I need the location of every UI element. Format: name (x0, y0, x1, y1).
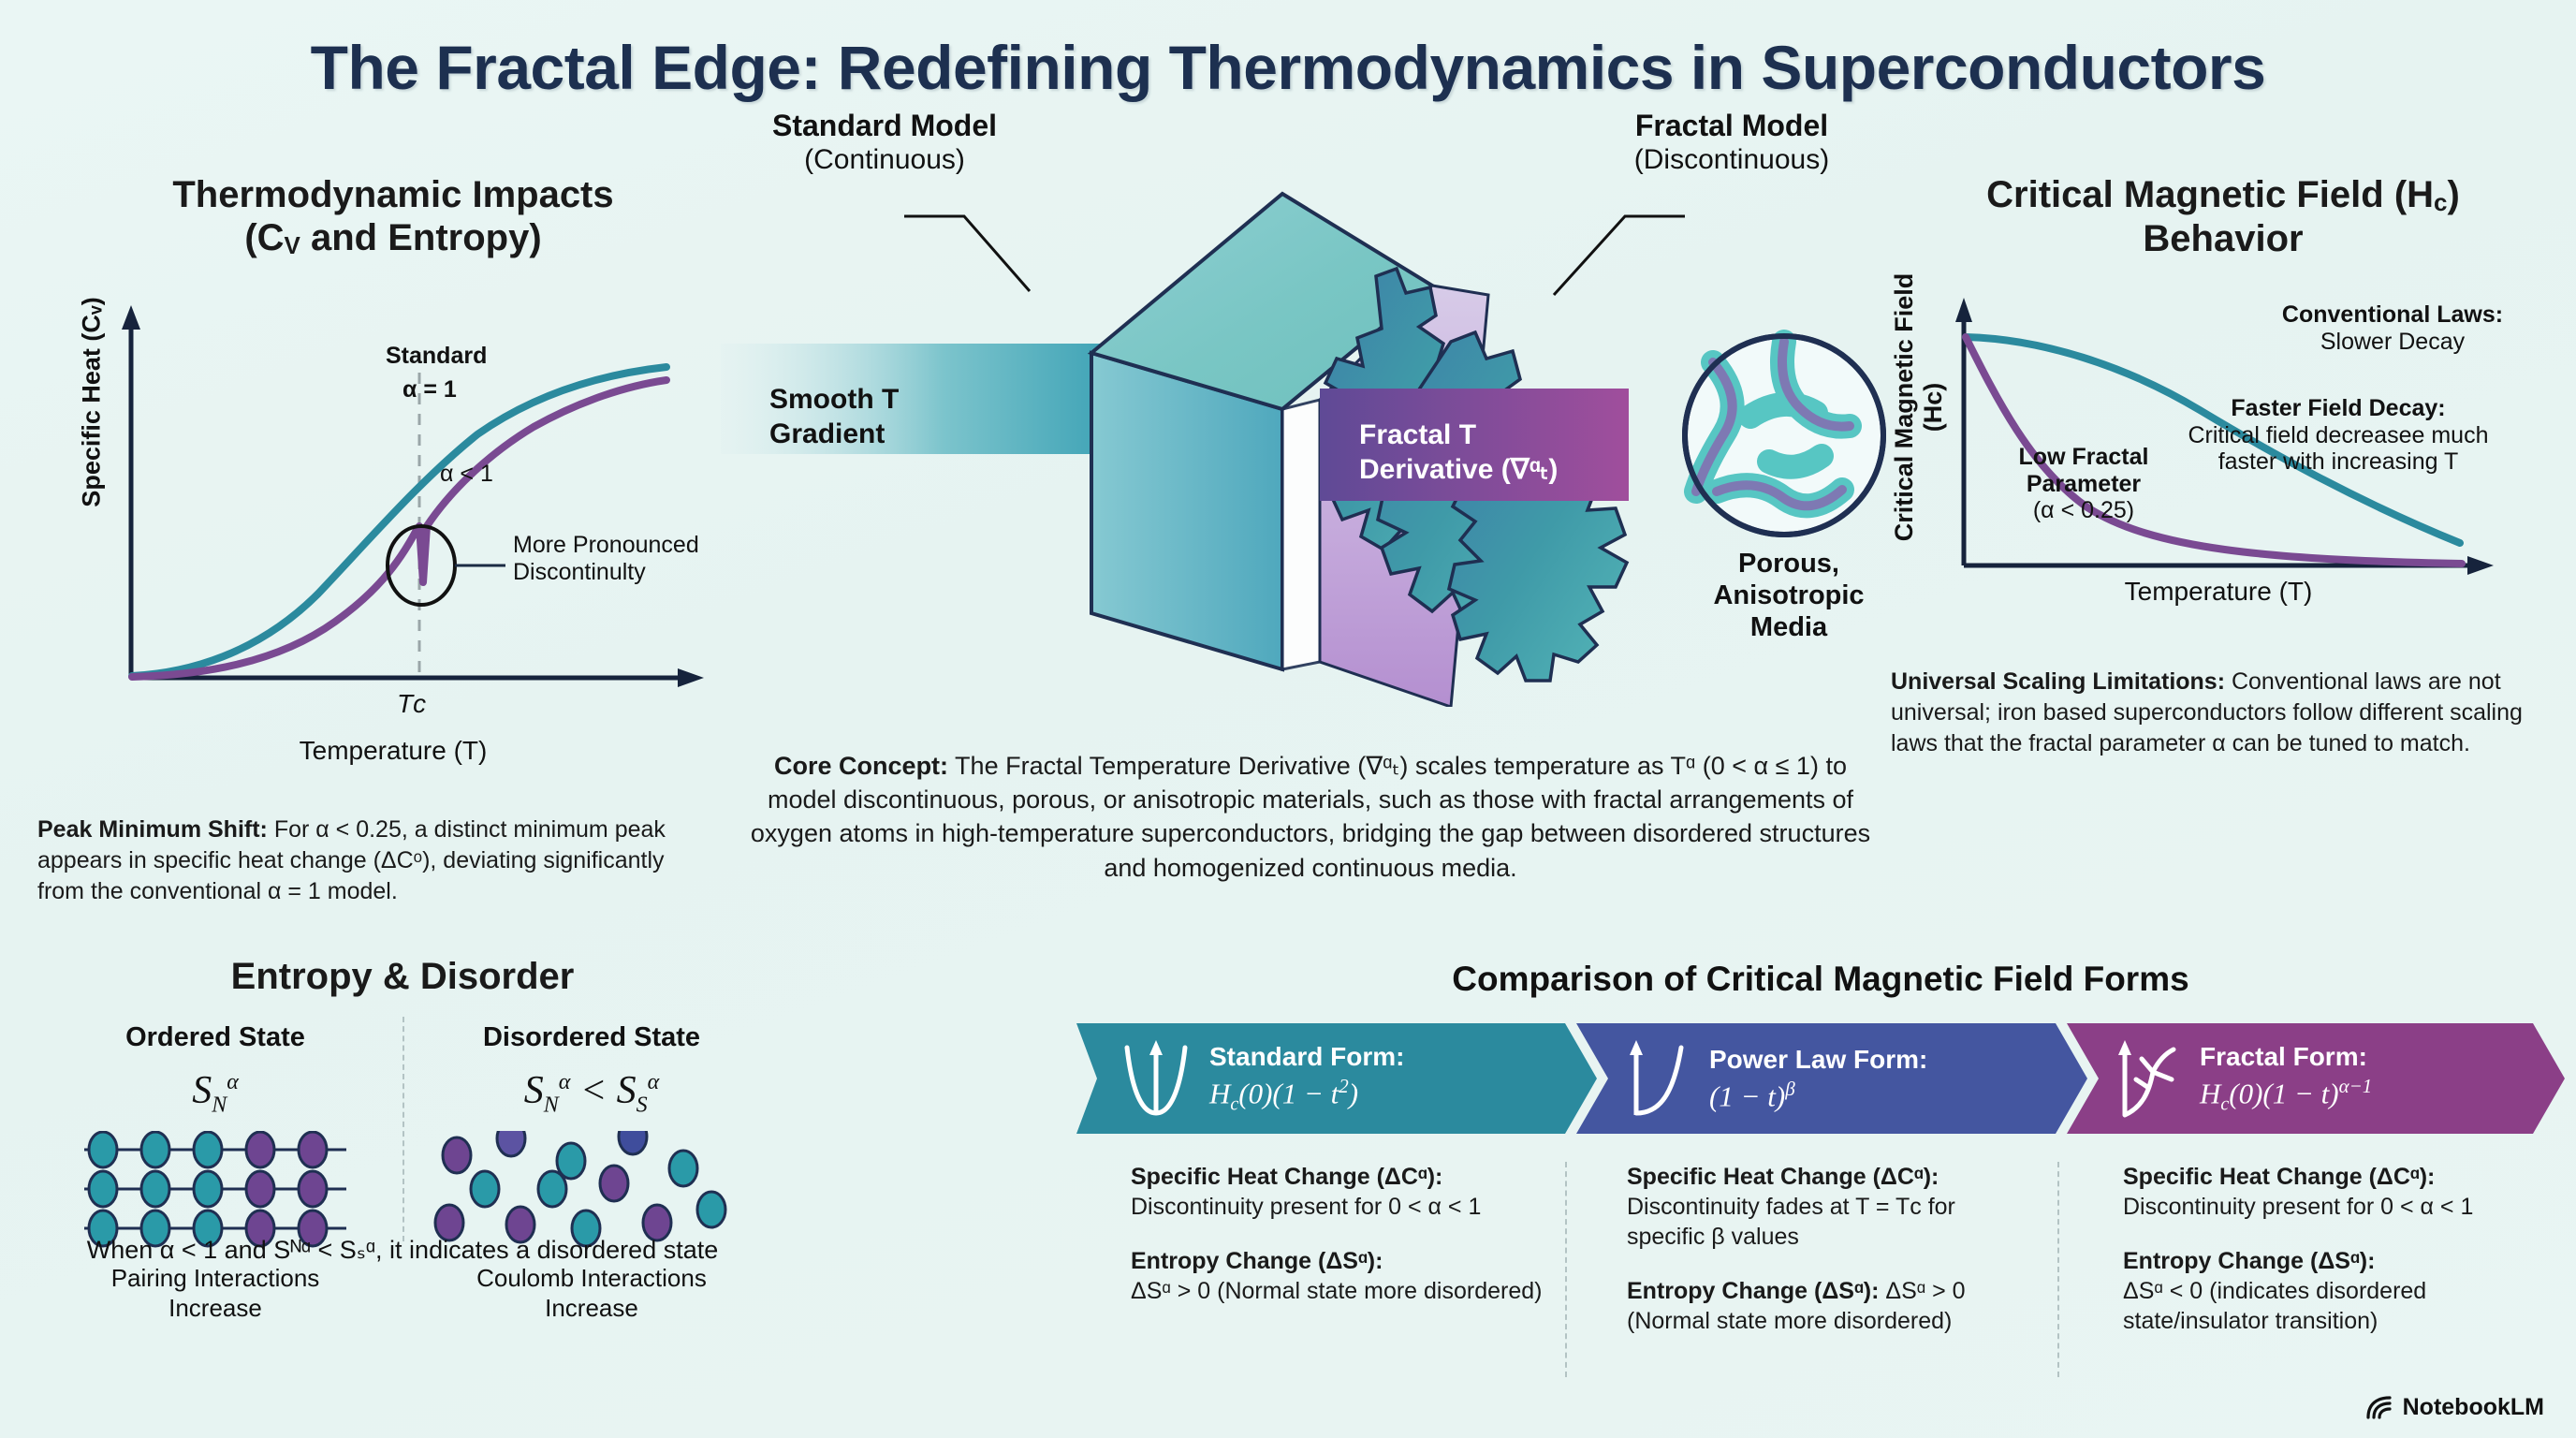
cv-y-axis-label: Specific Heat (Cᵥ) (78, 261, 107, 542)
ordered-state-caption: Pairing Interactions Increase (36, 1264, 395, 1322)
ordered-caption-line2: Increase (36, 1294, 395, 1323)
comparison-divider-1 (1565, 1162, 1567, 1377)
right-panel-title: Critical Magnetic Field (Hc) Behavior (1891, 173, 2555, 260)
critical-field-chart: Critical Magnetic Field (Hᴄ) Conventiona… (1891, 285, 2546, 594)
entropy-suffix: and Entropy) (300, 217, 542, 258)
power-law-spec-heat-label: Specific Heat Change (ΔCᵅ): (1627, 1164, 1939, 1190)
disordered-scatter-icon (412, 1131, 771, 1249)
disordered-state-column: Disordered State SNα < SSα (412, 1022, 771, 1323)
curve-fractal-alpha-lt-1 (132, 380, 666, 677)
fractal-entropy-block: Entropy Change (ΔSᵅ): ΔSᵅ < 0 (indicates… (2123, 1246, 2535, 1336)
power-law-entropy-block: Entropy Change (ΔSᵅ): ΔSᵅ > 0 (Normal st… (1627, 1276, 2039, 1336)
hc-title-subscript: c (2434, 188, 2447, 216)
hc-x-axis-arrow (2467, 556, 2494, 575)
right-caption-bold: Universal Scaling Limitations: (1891, 668, 2225, 695)
branching-fractal-icon (2110, 1038, 2183, 1119)
notebooklm-watermark: NotebookLM (2365, 1394, 2544, 1421)
tc-tick-label: Tᴄ (397, 689, 426, 719)
entropy-disorder-panel: Entropy & Disorder Ordered State SNα (28, 955, 777, 998)
disordered-state-caption: Coulomb Interactions Increase (412, 1264, 771, 1322)
standard-spec-heat-label: Specific Heat Change (ΔCᵅ): (1131, 1164, 1442, 1190)
entropy-panel-title: Entropy & Disorder (28, 955, 777, 998)
low-fractal-line2: Parameter (1981, 471, 2187, 498)
smooth-gradient-line2: Gradient (769, 418, 899, 452)
faster-decay-line2: faster with increasing T (2142, 448, 2535, 476)
porous-media-icon (1685, 336, 1883, 535)
discontinuity-annotation: More Pronounced Discontinulty (513, 532, 738, 586)
exponential-curve-icon (1619, 1038, 1692, 1119)
standard-form-equation: Hc(0)(1 − t2) (1209, 1075, 1404, 1116)
standard-form-label: Standard Form: (1209, 1041, 1404, 1073)
fractal-spec-heat-label: Specific Heat Change (ΔCᵅ): (2123, 1164, 2435, 1190)
faster-field-decay-annotation: Faster Field Decay: Critical field decre… (2142, 395, 2535, 476)
low-fractal-parameter-annotation: Low Fractal Parameter (α < 0.25) (1981, 444, 2187, 524)
faster-decay-bold: Faster Field Decay: (2142, 395, 2535, 422)
porous-media-caption: Porous, Anisotropic Media (1681, 548, 1896, 644)
standard-spec-heat-value: Discontinuity present for 0 < α < 1 (1131, 1194, 1481, 1220)
standard-entropy-block: Entropy Change (ΔSᵅ): ΔSᵅ > 0 (Normal st… (1131, 1246, 1548, 1306)
ordered-state-column: Ordered State SNα (36, 1022, 395, 1323)
comparison-divider-2 (2057, 1162, 2059, 1377)
core-concept-bold: Core Concept: (774, 752, 948, 780)
comparison-chevron-row: Standard Form: Hc(0)(1 − t2) Power Law F… (1076, 1023, 2565, 1134)
parabola-up-icon (1120, 1038, 1193, 1119)
power-law-entropy-label: Entropy Change (ΔSᵅ): (1627, 1278, 1879, 1304)
left-panel-title-line2: (CV and Entropy) (37, 216, 749, 260)
porous-media-line1: Porous, (1681, 548, 1896, 580)
standard-form-text: Standard Form: Hc(0)(1 − t2) (1209, 1041, 1404, 1115)
power-law-form-text: Power Law Form: (1 − t)β (1709, 1044, 1927, 1113)
low-fractal-line3: (α < 0.25) (1981, 497, 2187, 524)
conventional-laws-rest: Slower Decay (2252, 329, 2533, 356)
left-panel-title: Thermodynamic Impacts (CV and Entropy) (37, 173, 749, 260)
fractal-spec-heat-value: Discontinuity present for 0 < α < 1 (2123, 1194, 2473, 1220)
standard-entropy-value: ΔSᵅ > 0 (Normal state more disordered) (1131, 1278, 1542, 1304)
comparison-column-fractal: Specific Heat Change (ΔCᵅ): Discontinuit… (2123, 1162, 2535, 1336)
cv-x-axis-arrow (678, 668, 704, 687)
infographic-page: The Fractal Edge: Redefining Thermodynam… (0, 0, 2576, 1438)
fractal-model-leader (1554, 216, 1685, 295)
standard-spec-heat-block: Specific Heat Change (ΔCᵅ): Discontinuit… (1131, 1162, 1548, 1222)
low-fractal-line1: Low Fractal (1981, 444, 2187, 471)
ordered-lattice-icon (36, 1131, 395, 1249)
fractal-form-equation: Hc(0)(1 − t)α−1 (2200, 1075, 2372, 1116)
comparison-column-power-law: Specific Heat Change (ΔCᵅ): Discontinuit… (1627, 1162, 2039, 1336)
notebooklm-logo-icon (2365, 1395, 2393, 1421)
cv-paren: (C (244, 217, 284, 258)
disordered-state-formula: SNα < SSα (412, 1068, 771, 1118)
fractal-spec-heat-block: Specific Heat Change (ΔCᵅ): Discontinuit… (2123, 1162, 2535, 1222)
cv-x-axis-label: Temperature (T) (37, 736, 749, 766)
left-panel-title-line1: Thermodynamic Impacts (37, 173, 749, 216)
power-law-spec-heat-value: Discontinuity fades at T = Tᴄ for specif… (1627, 1194, 1955, 1250)
discontinuity-annotation-line2: Discontinulty (513, 559, 738, 586)
form-chevron-power-law[interactable]: Power Law Form: (1 − t)β (1576, 1023, 2087, 1134)
fractal-entropy-label: Entropy Change (ΔSᵅ): (2123, 1248, 2375, 1274)
conventional-laws-bold: Conventional Laws: (2252, 301, 2533, 329)
right-panel-title-line1: Critical Magnetic Field (Hc) (1891, 173, 2555, 217)
page-title: The Fractal Edge: Redefining Thermodynam… (0, 32, 2576, 103)
left-caption: Peak Minimum Shift: For α < 0.25, a dist… (37, 814, 711, 907)
label-standard: Standard (386, 343, 487, 370)
power-law-form-label: Power Law Form: (1709, 1044, 1927, 1076)
smooth-gradient-label: Smooth T Gradient (749, 370, 919, 464)
discontinuity-annotation-line1: More Pronounced (513, 532, 738, 559)
faster-decay-line1: Critical field decreasee much (2142, 422, 2535, 449)
standard-model-leader (904, 216, 1030, 291)
comparison-title: Comparison of Critical Magnetic Field Fo… (1076, 960, 2565, 999)
power-law-spec-heat-block: Specific Heat Change (ΔCᵅ): Discontinuit… (1627, 1162, 2039, 1252)
core-concept-caption: Core Concept: The Fractal Temperature De… (739, 749, 1881, 885)
ordered-state-title: Ordered State (36, 1022, 395, 1053)
form-chevron-standard[interactable]: Standard Form: Hc(0)(1 − t2) (1076, 1023, 1597, 1134)
form-chevron-fractal[interactable]: Fractal Form: Hc(0)(1 − t)α−1 (2067, 1023, 2565, 1134)
cv-subscript: V (285, 231, 300, 259)
fractal-derivative-line2: Derivative (∇ᵅₜ) (1359, 453, 1558, 488)
ordered-caption-line1: Pairing Interactions (36, 1264, 395, 1293)
disordered-caption-line2: Increase (412, 1294, 771, 1323)
notebooklm-label: NotebookLM (2403, 1394, 2544, 1421)
hc-y-axis-arrow (1955, 298, 1972, 322)
right-panel-title-line2: Behavior (1891, 217, 2555, 260)
curve-standard-alpha-1 (132, 367, 666, 676)
cv-y-axis-arrow (122, 305, 140, 330)
label-alpha-equals-one: α = 1 (402, 376, 457, 404)
specific-heat-chart: Specific Heat (Cᵥ) Standard α = 1 α < 1 … (37, 285, 749, 697)
ordered-state-formula: SNα (36, 1068, 395, 1118)
right-caption: Universal Scaling Limitations: Conventio… (1891, 667, 2537, 759)
porous-media-line2: Anisotropic (1681, 580, 1896, 611)
conventional-laws-annotation: Conventional Laws: Slower Decay (2252, 301, 2533, 356)
left-caption-bold: Peak Minimum Shift: (37, 816, 268, 843)
porous-media-line3: Media (1681, 611, 1896, 643)
entropy-divider (402, 1017, 404, 1241)
smooth-gradient-line1: Smooth T (769, 383, 899, 418)
critical-magnetic-field-panel: Critical Magnetic Field (Hc) Behavior Cr… (1891, 173, 2555, 759)
power-law-form-equation: (1 − t)β (1709, 1078, 1927, 1114)
hc-title-post: ) (2448, 174, 2460, 215)
fractal-form-label: Fractal Form: (2200, 1041, 2372, 1073)
cube-cut-plane (1282, 400, 1320, 669)
fractal-derivative-line1: Fractal T (1359, 418, 1558, 453)
comparison-detail-columns: Specific Heat Change (ΔCᵅ): Discontinuit… (1076, 1162, 2565, 1396)
comparison-panel: Comparison of Critical Magnetic Field Fo… (1076, 960, 2565, 1396)
fractal-form-text: Fractal Form: Hc(0)(1 − t)α−1 (2200, 1041, 2372, 1115)
hc-title-pre: Critical Magnetic Field (H (1986, 174, 2434, 215)
hc-x-axis-label: Temperature (T) (1891, 577, 2546, 607)
disordered-state-title: Disordered State (412, 1022, 771, 1053)
hc-y-axis-label: Critical Magnetic Field (Hᴄ) (1890, 248, 1948, 566)
standard-entropy-label: Entropy Change (ΔSᵅ): (1131, 1248, 1383, 1274)
label-alpha-less-than-one: α < 1 (440, 461, 493, 488)
entropy-footer-note: When α < 1 and Sᴺᵅ < Sₛᵅ, it indicates a… (28, 1236, 777, 1265)
comparison-column-standard: Specific Heat Change (ΔCᵅ): Discontinuit… (1131, 1162, 1548, 1306)
thermodynamic-impacts-panel: Thermodynamic Impacts (CV and Entropy) (37, 173, 749, 907)
fractal-entropy-value: ΔSᵅ < 0 (indicates disordered state/insu… (2123, 1278, 2426, 1334)
disordered-caption-line1: Coulomb Interactions (412, 1264, 771, 1293)
fractal-derivative-label: Fractal T Derivative (∇ᵅₜ) (1339, 405, 1578, 500)
